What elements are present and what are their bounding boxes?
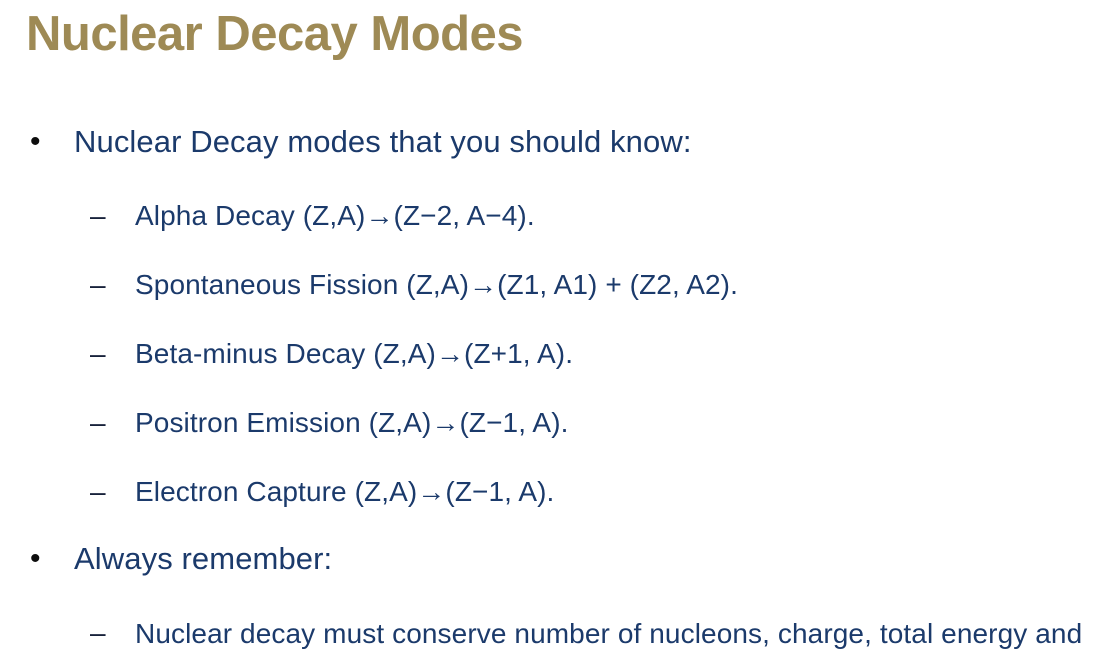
dash-bullet-icon: – (90, 264, 120, 306)
bullet-dot-icon: • (30, 537, 50, 581)
list-item: – Beta-minus Decay (Z,A)→(Z+1, A). (0, 333, 1118, 377)
list-item: • Nuclear Decay modes that you should kn… (0, 120, 1118, 170)
slide-canvas: Nuclear Decay Modes • Nuclear Decay mode… (0, 0, 1118, 663)
dash-bullet-icon: – (90, 402, 120, 444)
list-item-label: Nuclear Decay modes that you should know… (74, 120, 1118, 164)
list-item-label: Beta-minus Decay (Z,A)→(Z+1, A). (135, 333, 1118, 375)
list-item: – Spontaneous Fission (Z,A)→(Z1, A1) + (… (0, 264, 1118, 308)
dash-bullet-icon: – (90, 612, 120, 654)
dash-bullet-icon: – (90, 471, 120, 513)
list-item-label: Always remember: (74, 537, 1118, 581)
list-item: – Nuclear decay must conserve number of … (0, 612, 1118, 663)
list-item-label: Positron Emission (Z,A)→(Z−1, A). (135, 402, 1118, 444)
list-item: • Always remember: (0, 537, 1118, 587)
list-item-label: Electron Capture (Z,A)→(Z−1, A). (135, 471, 1118, 513)
list-item-label: Alpha Decay (Z,A)→(Z−2, A−4). (135, 195, 1118, 237)
list-item: – Electron Capture (Z,A)→(Z−1, A). (0, 471, 1118, 515)
list-item-label: Nuclear decay must conserve number of nu… (135, 612, 1100, 663)
bullet-list: • Nuclear Decay modes that you should kn… (0, 120, 1118, 663)
dash-bullet-icon: – (90, 195, 120, 237)
list-item-label: Spontaneous Fission (Z,A)→(Z1, A1) + (Z2… (135, 264, 1118, 306)
dash-bullet-icon: – (90, 333, 120, 375)
list-item: – Positron Emission (Z,A)→(Z−1, A). (0, 402, 1118, 446)
list-item: – Alpha Decay (Z,A)→(Z−2, A−4). (0, 195, 1118, 239)
bullet-dot-icon: • (30, 120, 50, 164)
page-title: Nuclear Decay Modes (26, 2, 523, 66)
